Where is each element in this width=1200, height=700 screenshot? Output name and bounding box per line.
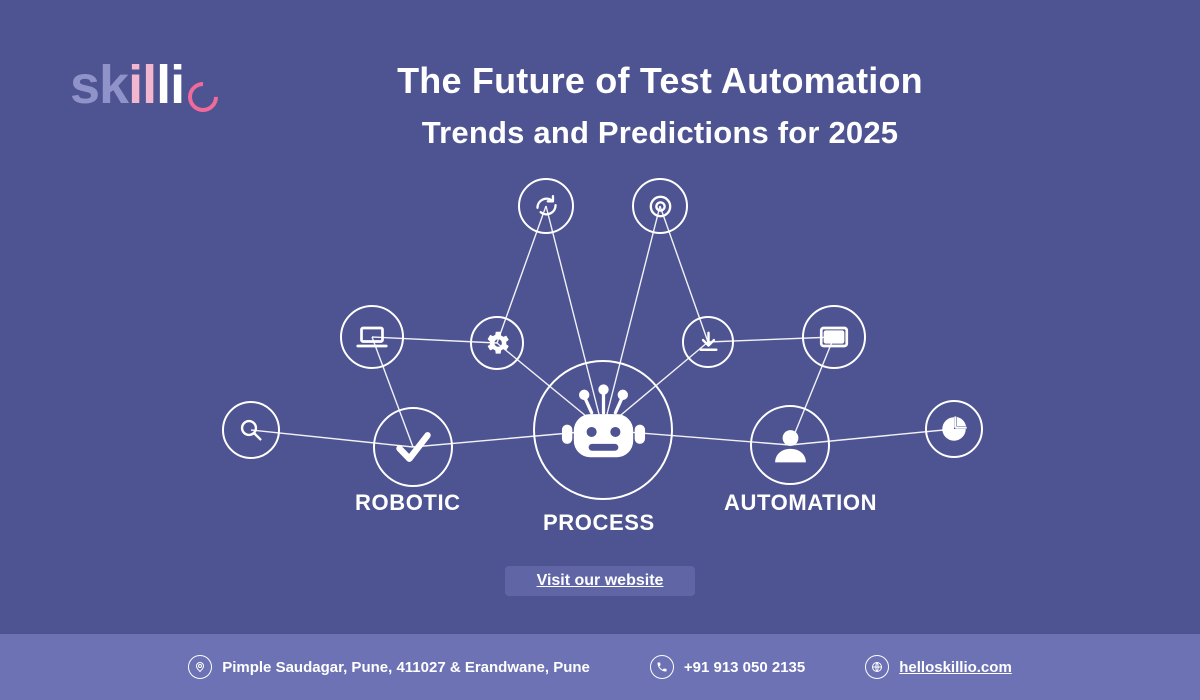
- monitor-icon: [816, 319, 852, 355]
- logo-text-part2: il: [128, 58, 156, 112]
- footer-address-text: Pimple Saudagar, Pune, 411027 & Erandwan…: [222, 659, 590, 676]
- location-pin-icon: [188, 655, 212, 679]
- node-refresh[interactable]: [518, 178, 574, 234]
- phone-icon: [650, 655, 674, 679]
- diagram-label: AUTOMATION: [724, 490, 877, 516]
- footer-bar: Pimple Saudagar, Pune, 411027 & Erandwan…: [0, 634, 1200, 700]
- node-gear[interactable]: [470, 316, 524, 370]
- node-monitor[interactable]: [802, 305, 866, 369]
- node-laptop[interactable]: [340, 305, 404, 369]
- magnifier-icon: [235, 414, 267, 446]
- visit-website-button[interactable]: Visit our website: [505, 566, 695, 596]
- network-diagram: ROBOTICPROCESSAUTOMATION: [0, 165, 1200, 565]
- brand-logo[interactable]: sk il li: [70, 58, 214, 112]
- node-search[interactable]: [222, 401, 280, 459]
- page-subtitle: Trends and Predictions for 2025: [300, 115, 1020, 151]
- footer-website[interactable]: helloskillio.com: [865, 655, 1012, 679]
- user-icon: [768, 423, 813, 468]
- check-icon: [391, 425, 436, 470]
- page-title: The Future of Test Automation: [300, 60, 1020, 102]
- poster-canvas: sk il li The Future of Test Automation T…: [0, 0, 1200, 700]
- footer-address: Pimple Saudagar, Pune, 411027 & Erandwan…: [188, 655, 590, 679]
- ring-dot-icon: [188, 82, 214, 108]
- node-robot[interactable]: [533, 360, 673, 500]
- node-download[interactable]: [682, 316, 734, 368]
- logo-text-part1: sk: [70, 58, 128, 112]
- node-check[interactable]: [373, 407, 453, 487]
- footer-phone[interactable]: +91 913 050 2135: [650, 655, 805, 679]
- logo-text-part3: li: [156, 58, 184, 112]
- footer-phone-text: +91 913 050 2135: [684, 659, 805, 676]
- pie-chart-icon: [938, 413, 970, 445]
- download-icon: [694, 328, 723, 357]
- node-user[interactable]: [750, 405, 830, 485]
- node-chart[interactable]: [925, 400, 983, 458]
- node-target[interactable]: [632, 178, 688, 234]
- footer-website-text: helloskillio.com: [899, 659, 1012, 676]
- diagram-label: ROBOTIC: [355, 490, 461, 516]
- diagram-label: PROCESS: [543, 510, 655, 536]
- robot-icon: [556, 383, 651, 478]
- globe-icon: [865, 655, 889, 679]
- target-icon: [645, 191, 676, 222]
- gear-icon: [482, 328, 512, 358]
- refresh-icon: [531, 191, 562, 222]
- laptop-icon: [354, 319, 390, 355]
- visit-website-label: Visit our website: [537, 572, 664, 590]
